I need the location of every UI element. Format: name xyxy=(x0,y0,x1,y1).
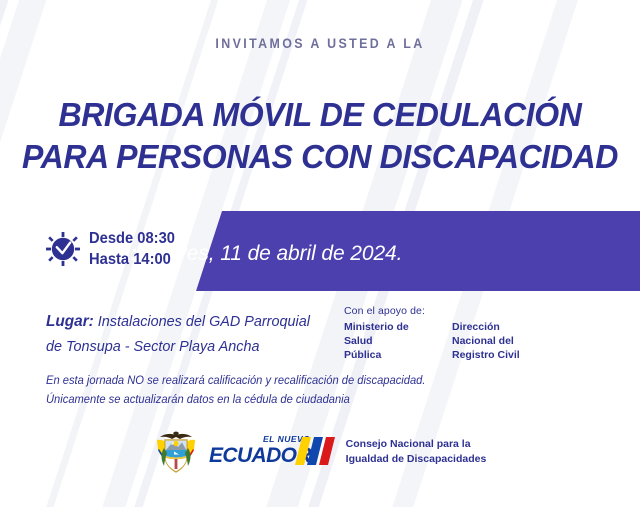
support-heading: Con el apoyo de: xyxy=(344,305,544,317)
support-entity: Ministerio de Salud Pública xyxy=(344,320,436,363)
hours-block: Desde 08:30 Hasta 14:00 xyxy=(46,228,179,271)
invitation-poster: INVITAMOS A USTED A LA BRIGADA MÓVIL DE … xyxy=(0,0,640,507)
support-entity-line-1: Ministerio de Salud xyxy=(344,320,436,348)
disclaimer-note: En esta jornada NO se realizará califica… xyxy=(46,372,425,409)
location-block: Lugar: Instalaciones del GAD Parroquial … xyxy=(46,310,310,358)
hours-text: Desde 08:30 Hasta 14:00 xyxy=(89,228,175,271)
organization-name: Consejo Nacional para la Igualdad de Dis… xyxy=(346,437,487,467)
support-entity: Dirección Nacional del Registro Civil xyxy=(452,320,544,363)
el-nuevo-ecuador-logo: EL NUEVO ECUADOR xyxy=(209,431,335,473)
date-value: Jueves, 11 de abril de 2024. xyxy=(143,242,403,265)
support-block: Con el apoyo de: Ministerio de Salud Púb… xyxy=(344,305,544,363)
organization-line-1: Consejo Nacional para la xyxy=(346,437,487,452)
disclaimer-line-1: En esta jornada NO se realizará califica… xyxy=(46,372,425,391)
support-entity-line-1: Dirección Nacional del xyxy=(452,320,544,348)
location-value-1: Instalaciones del GAD Parroquial xyxy=(98,313,310,330)
location-line-2: de Tonsupa - Sector Playa Ancha xyxy=(46,335,310,358)
support-entities: Ministerio de Salud Pública Dirección Na… xyxy=(344,320,544,363)
hours-from: Desde 08:30 xyxy=(89,228,175,249)
disclaimer-line-2: Únicamente se actualizarán datos en la c… xyxy=(46,391,425,410)
support-entity-line-2: Pública xyxy=(344,348,436,362)
title-line-2: PARA PERSONAS CON DISCAPACIDAD xyxy=(10,136,631,178)
location-label: Lugar: xyxy=(46,313,94,330)
invitation-kicker: INVITAMOS A USTED A LA xyxy=(26,36,615,51)
footer-logos: EL NUEVO ECUADOR Consejo Nacional para l… xyxy=(0,428,640,476)
organization-line-2: Igualdad de Discapacidades xyxy=(346,452,487,467)
location-line-1: Lugar: Instalaciones del GAD Parroquial xyxy=(46,310,310,335)
page-title: BRIGADA MÓVIL DE CEDULACIÓN PARA PERSONA… xyxy=(10,94,631,178)
ecuador-flag-bars xyxy=(295,437,335,465)
ecuador-coat-of-arms-icon xyxy=(154,428,198,476)
support-entity-line-2: Registro Civil xyxy=(452,348,544,362)
hours-to: Hasta 14:00 xyxy=(89,249,175,270)
clock-icon xyxy=(46,232,80,266)
title-line-1: BRIGADA MÓVIL DE CEDULACIÓN xyxy=(10,94,631,136)
